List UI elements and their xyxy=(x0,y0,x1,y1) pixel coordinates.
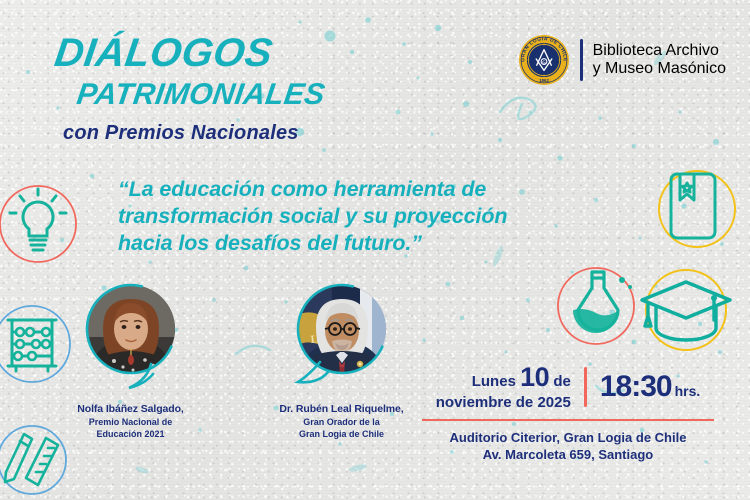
event-venue: Auditorio Citerior, Gran Logia de Chile … xyxy=(408,429,728,464)
speaker-role-line-2: Gran Logia de Chile xyxy=(249,429,434,440)
event-rule xyxy=(422,419,714,421)
event-poster: DIÁLOGOS PATRIMONIALES con Premios Nacio… xyxy=(0,0,750,500)
brand-lockup: GRAN LOGIA DE CHILE 1862 G Biblioteca Ar… xyxy=(518,34,726,86)
quote-line-2: transformación social y su proyección xyxy=(118,203,588,230)
speaker-card: Nolfa Ibáñez Salgado, Premio Nacional de… xyxy=(38,282,223,440)
speaker-name: Nolfa Ibáñez Salgado, xyxy=(38,403,223,416)
speaker-role-line-2: Educación 2021 xyxy=(38,429,223,440)
date-time-row: Lunes 10 de noviembre de 2025 18:30hrs. xyxy=(408,362,728,412)
title-subtitle: con Premios Nacionales xyxy=(63,122,325,145)
quote-text: “La educación como herramienta de transf… xyxy=(118,176,588,257)
event-day-prefix: Lunes xyxy=(472,373,516,390)
event-month-year: noviembre de 2025 xyxy=(436,394,571,412)
event-time: 18:30hrs. xyxy=(600,370,700,404)
book-bookmark-icon xyxy=(644,156,750,262)
date-time-divider xyxy=(584,367,587,407)
event-info: Lunes 10 de noviembre de 2025 18:30hrs. … xyxy=(408,362,728,463)
venue-line-2: Av. Marcoleta 659, Santiago xyxy=(408,446,728,463)
speaker-role-line-1: Premio Nacional de xyxy=(38,417,223,428)
title-line-1: DIÁLOGOS xyxy=(52,34,327,73)
title-line-2: PATRIMONIALES xyxy=(75,79,327,111)
venue-line-1: Auditorio Citerior, Gran Logia de Chile xyxy=(408,429,728,446)
lightbulb-icon xyxy=(0,172,90,276)
event-day-number: 10 xyxy=(520,362,549,392)
quote-line-3: hacia los desafíos del futuro.” xyxy=(118,230,588,257)
speech-bubble-ring xyxy=(79,282,183,394)
event-time-unit: hrs. xyxy=(675,383,701,399)
brand-name-line-1: Biblioteca Archivo xyxy=(593,42,726,60)
brand-name-line-2: y Museo Masónico xyxy=(593,60,726,78)
event-day-suffix: de xyxy=(553,373,571,390)
speaker-name: Dr. Rubén Leal Riquelme, xyxy=(249,403,434,416)
brand-divider xyxy=(580,39,583,81)
graduation-cap-icon xyxy=(628,258,744,370)
avatar xyxy=(79,282,183,394)
speakers-list: Nolfa Ibáñez Salgado, Premio Nacional de… xyxy=(38,282,434,440)
gran-logia-seal-icon: GRAN LOGIA DE CHILE 1862 G xyxy=(518,34,570,86)
avatar: LEP xyxy=(290,282,394,394)
speaker-role-line-1: Gran Orador de la xyxy=(249,417,434,428)
seal-year-text: 1862 xyxy=(539,78,549,83)
quote-line-1: “La educación como herramienta de xyxy=(118,176,588,203)
svg-text:G: G xyxy=(542,60,546,65)
event-time-value: 18:30 xyxy=(600,370,672,403)
event-date: Lunes 10 de noviembre de 2025 xyxy=(436,362,571,412)
speaker-card: LEP xyxy=(249,282,434,440)
speech-bubble-ring xyxy=(290,282,394,394)
brand-name: Biblioteca Archivo y Museo Masónico xyxy=(593,42,726,78)
title-block: DIÁLOGOS PATRIMONIALES con Premios Nacio… xyxy=(55,34,325,145)
